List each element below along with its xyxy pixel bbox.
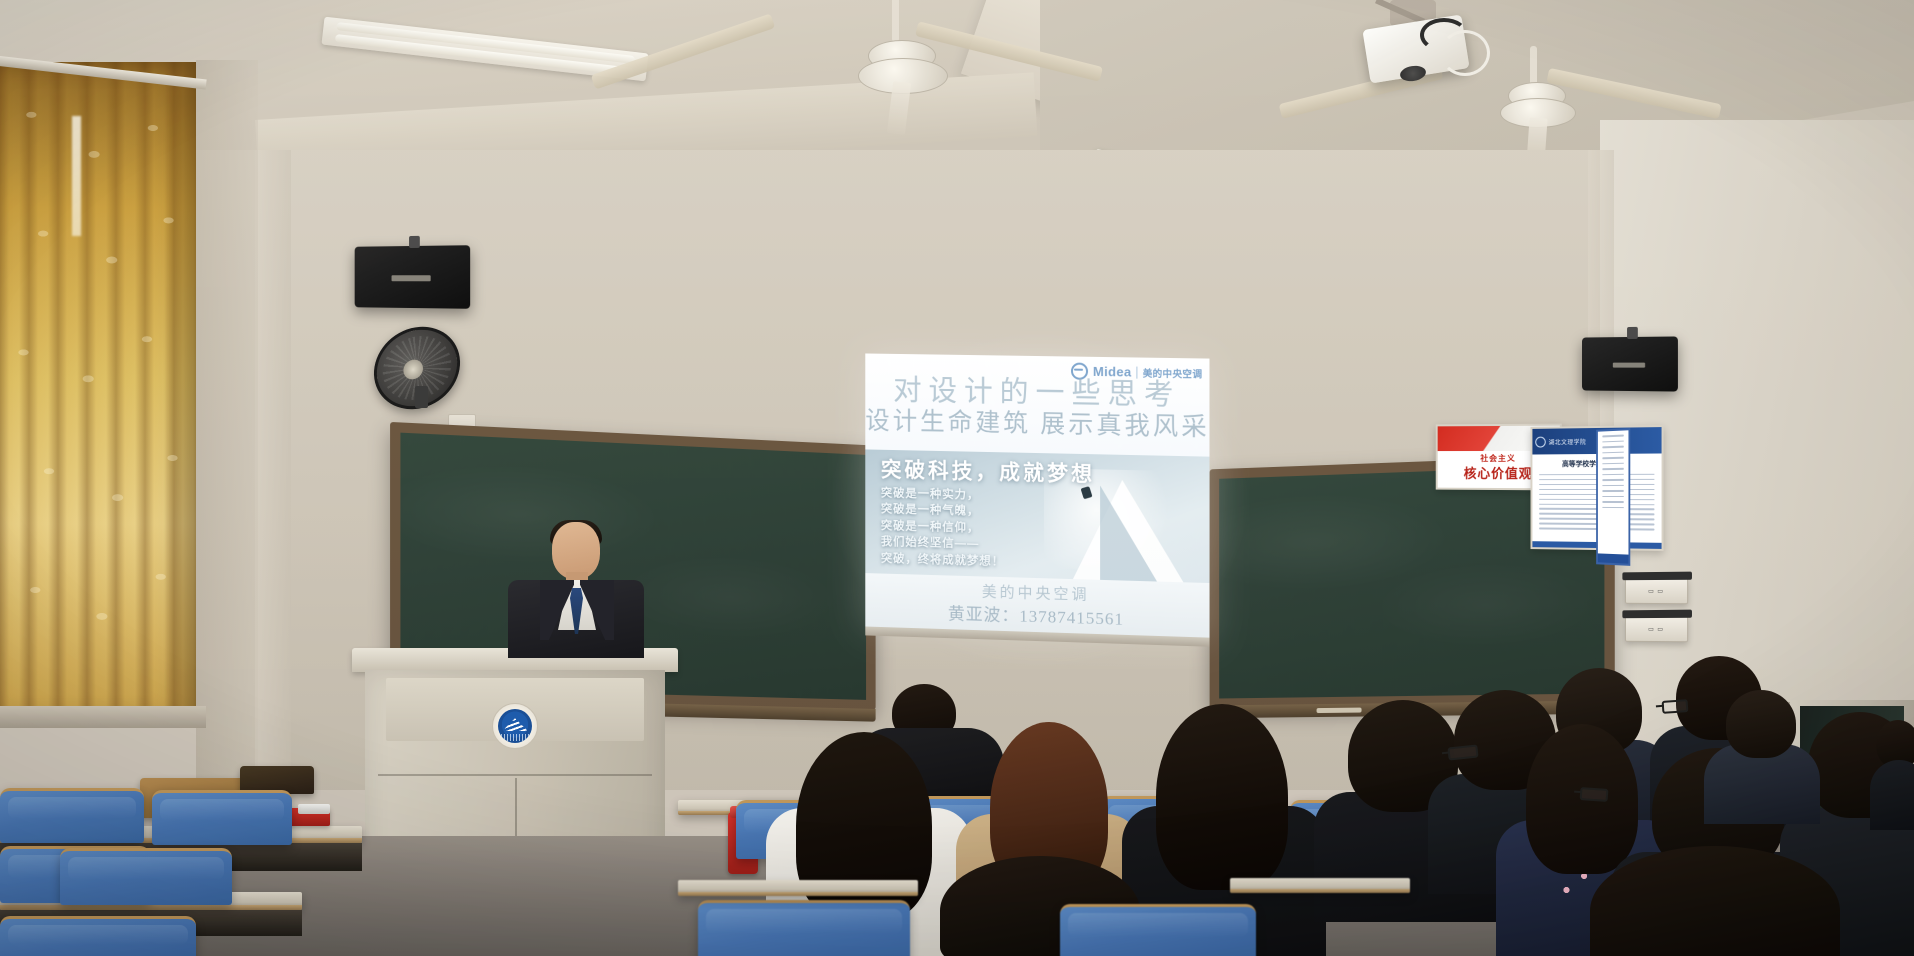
foreground-seat[interactable]: [1060, 904, 1256, 956]
projection-screen[interactable]: Midea 美的中央空调 对设计的一些思考 设计生命建筑 展示真我风采 突破科技…: [865, 353, 1209, 638]
audience-member-foreground-right: [1590, 846, 1840, 956]
person-hair: [1590, 846, 1840, 956]
ac-control-box-upper[interactable]: ▭ ▭: [1625, 578, 1688, 604]
slide-header-area: Midea 美的中央空调 对设计的一些思考 设计生命建筑 展示真我风采: [865, 353, 1209, 456]
university-name: 湖北文理学院: [1549, 437, 1587, 446]
speaker-badge: [392, 275, 431, 281]
control-box-lid: [1622, 610, 1692, 619]
presenter-speaker-person: [496, 520, 656, 655]
empty-seat[interactable]: [0, 916, 196, 956]
university-emblem-icon: [498, 709, 532, 743]
speaker-bracket: [409, 236, 420, 248]
presenter-head: [552, 522, 600, 579]
audience-member-edge: [1876, 720, 1914, 816]
slide-subtitle: 设计生命建筑 展示真我风采: [865, 401, 1209, 444]
wall-speaker-right: [1582, 336, 1678, 391]
slide-headline: 突破科技，成就梦想: [881, 454, 1095, 489]
speaker-badge: [1613, 363, 1646, 368]
control-box-label: ▭ ▭: [1648, 625, 1664, 633]
classroom-scene: 社会主义 核心价值观 湖北文理学院 高等学校学生行为准则 ▭ ▭ ▭ ▭: [0, 0, 1914, 956]
podium-seam: [378, 774, 652, 776]
empty-seat[interactable]: [60, 848, 232, 905]
wall-pillar: [255, 150, 291, 790]
window-curtain[interactable]: [0, 62, 196, 722]
eyeglasses-icon: [1580, 787, 1609, 802]
university-seal-icon: [1535, 436, 1545, 447]
desk-edge: [1230, 889, 1410, 893]
person-shoulders: [1870, 760, 1914, 830]
control-box-lid: [1622, 572, 1692, 581]
desk-edge: [678, 892, 918, 896]
control-box-label: ▭ ▭: [1648, 587, 1664, 595]
foreground-desk: [1230, 878, 1410, 893]
person-head: [1726, 690, 1796, 758]
ceiling-projector[interactable]: [1366, 22, 1496, 102]
slide-body-lines: 突破是一种实力， 突破是一种气魄， 突破是一种信仰， 我们始终坚信—— 突破，终…: [881, 485, 1004, 570]
white-phone-on-case[interactable]: [298, 804, 330, 814]
slide-body-area: 突破科技，成就梦想 突破是一种实力， 突破是一种气魄， 突破是一种信仰， 我们始…: [865, 449, 1209, 582]
wall-mounted-fan[interactable]: [373, 328, 461, 408]
slide-body-line: 突破，终将成就梦想！: [881, 551, 1004, 571]
empty-seat[interactable]: [0, 788, 144, 843]
curtain-pattern: [0, 62, 196, 722]
foreground-desk: [678, 880, 918, 896]
window-sill: [0, 706, 206, 728]
audience-member-right-4: [1708, 690, 1812, 800]
wall-speaker-left: [355, 245, 470, 309]
mountain-shadow: [1100, 485, 1161, 583]
curtain-light-gap: [72, 116, 81, 236]
projected-slide: Midea 美的中央空调 对设计的一些思考 设计生命建筑 展示真我风采 突破科技…: [865, 353, 1209, 638]
projector-cable: [1440, 30, 1490, 76]
eyeglasses-icon: [1662, 699, 1689, 714]
fan-neck: [415, 386, 428, 408]
foreground-seat[interactable]: [698, 900, 910, 956]
person-hair: [1156, 704, 1288, 890]
speaker-bracket: [1627, 327, 1638, 339]
empty-seat[interactable]: [152, 790, 292, 845]
notice-footer-bar: [1598, 553, 1629, 563]
mountain-illustration: [1048, 474, 1199, 583]
left-wall-return: [196, 60, 258, 800]
ceiling-fan-left[interactable]: [718, 0, 1038, 130]
right-wall-notice-board: [1596, 428, 1630, 566]
podium-emblem-badge: [492, 703, 538, 749]
ac-control-box-lower[interactable]: ▭ ▭: [1625, 616, 1688, 642]
